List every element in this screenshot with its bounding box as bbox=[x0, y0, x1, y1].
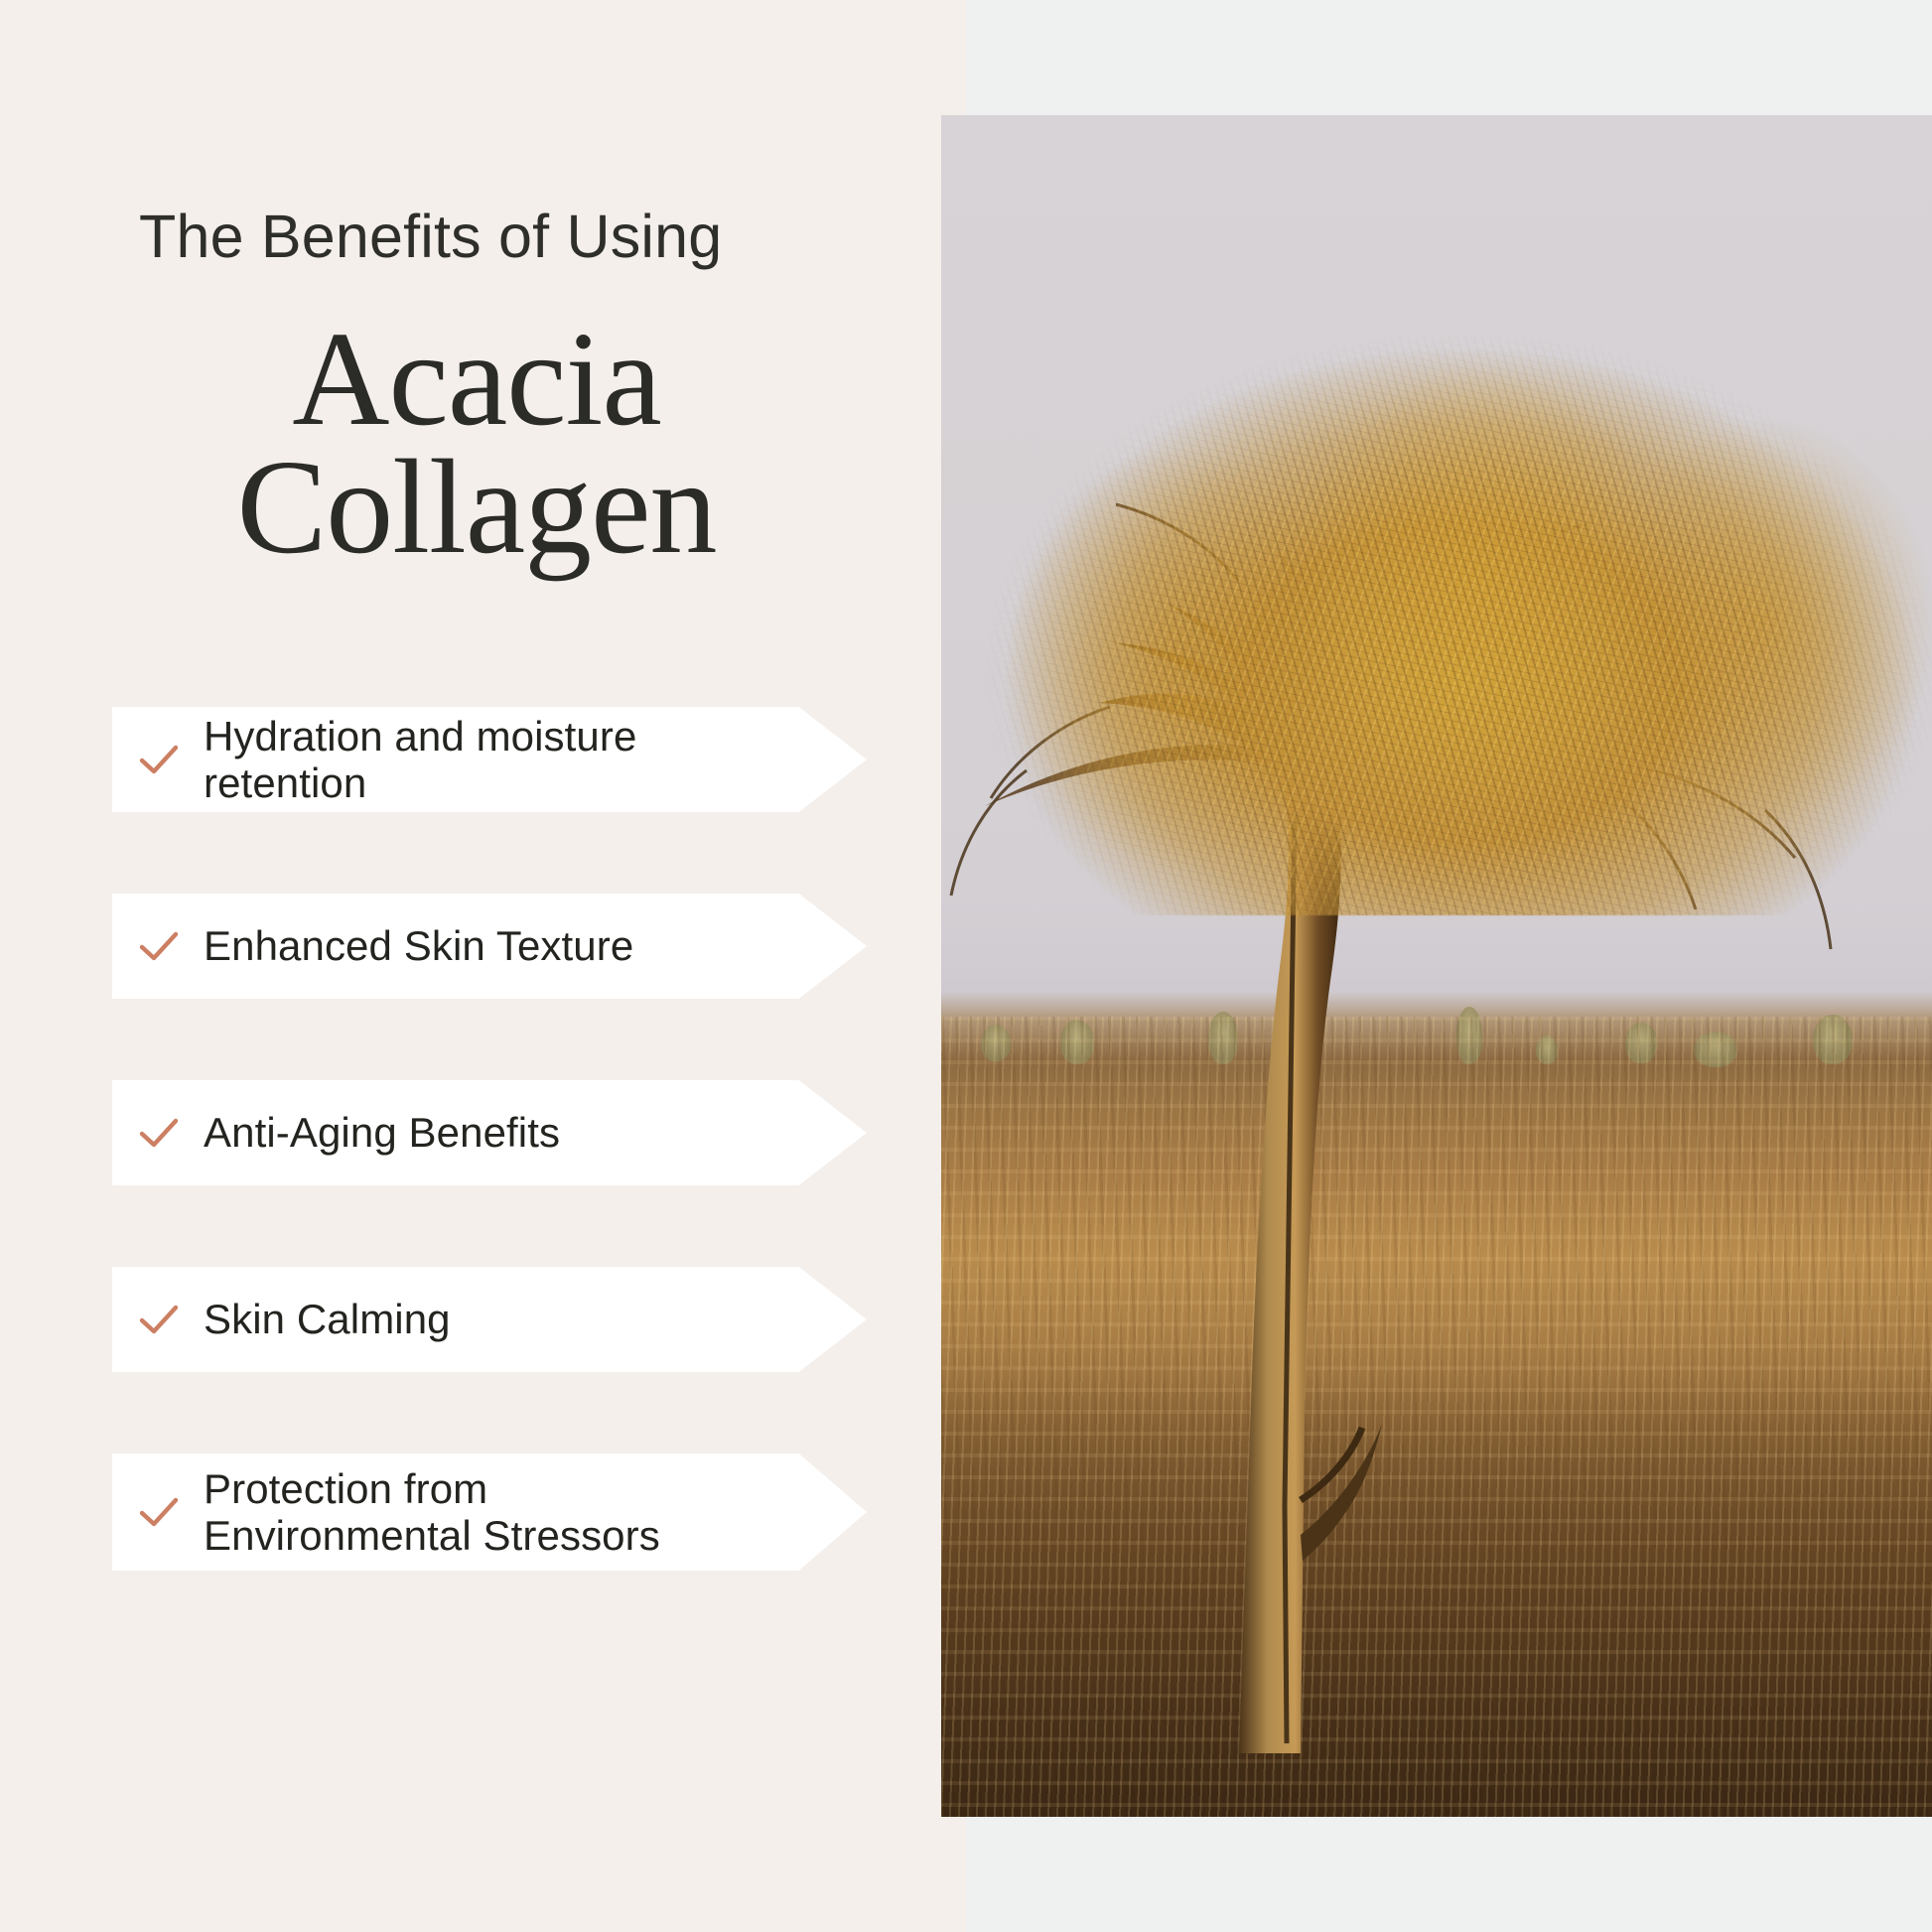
benefit-item-anti-aging[interactable]: Anti-Aging Benefits bbox=[112, 1080, 867, 1185]
check-icon bbox=[136, 1489, 182, 1535]
benefit-label: Enhanced Skin Texture bbox=[204, 922, 633, 969]
benefit-item-skin-calming[interactable]: Skin Calming bbox=[112, 1267, 867, 1372]
benefit-item-hydration[interactable]: Hydration and moisture retention bbox=[112, 707, 867, 812]
acacia-canopy-texture bbox=[961, 303, 1932, 915]
page-title: Acacia Collagen bbox=[139, 316, 814, 572]
poster-canvas: The Benefits of Using Acacia Collagen Hy… bbox=[0, 0, 1932, 1932]
title-line-2: Collagen bbox=[139, 444, 814, 572]
benefit-label: Skin Calming bbox=[204, 1296, 451, 1342]
acacia-tree-photo bbox=[941, 115, 1932, 1817]
benefit-item-environmental-protection[interactable]: Protection from Environmental Stressors bbox=[112, 1453, 867, 1571]
check-icon bbox=[136, 1110, 182, 1156]
benefits-list: Hydration and moisture retention Enhance… bbox=[112, 707, 867, 1571]
check-icon bbox=[136, 923, 182, 969]
kicker-heading: The Benefits of Using bbox=[139, 204, 722, 270]
title-line-1: Acacia bbox=[139, 316, 814, 444]
check-icon bbox=[136, 1297, 182, 1342]
benefit-label: Anti-Aging Benefits bbox=[204, 1109, 560, 1156]
benefit-label: Protection from Environmental Stressors bbox=[204, 1465, 759, 1559]
benefit-label: Hydration and moisture retention bbox=[204, 713, 759, 806]
benefit-item-skin-texture[interactable]: Enhanced Skin Texture bbox=[112, 894, 867, 999]
check-icon bbox=[136, 737, 182, 782]
